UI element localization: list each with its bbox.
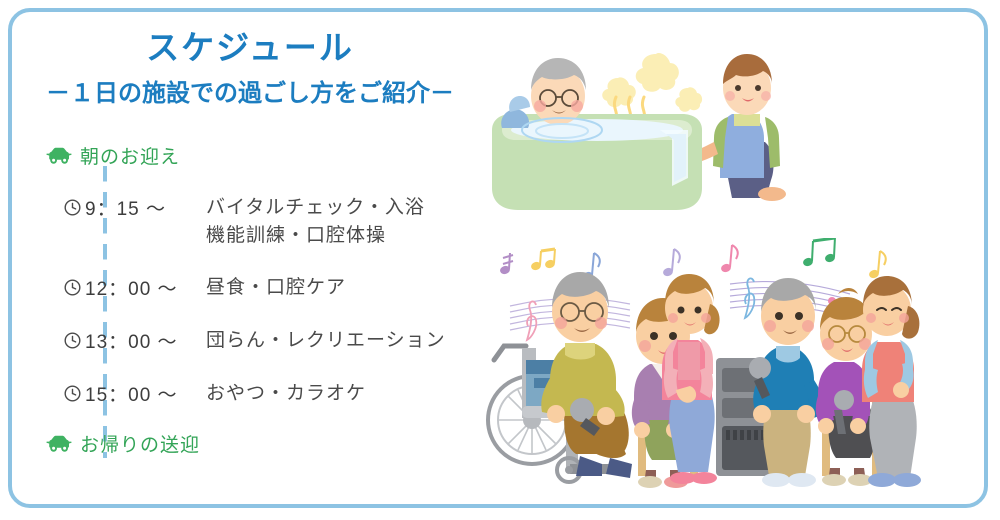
clock-icon (64, 279, 81, 296)
entry-time-group: 15：00 ～ (64, 380, 192, 407)
entry-activity: おやつ・カラオケ (192, 380, 366, 408)
pickup-row: 朝のお迎え (46, 142, 180, 169)
entry-time-group: 13：00 ～ (64, 327, 192, 354)
entry-time-group: 9：15 ～ (64, 194, 192, 221)
bathtub (492, 114, 702, 210)
page-subtitle: －１日の施設での過ごし方をご紹介－ (30, 78, 470, 109)
clock-icon (64, 385, 81, 402)
bathing-assistance-illustration (470, 18, 790, 228)
timeline-entry: 13：00 ～ 団らん・レクリエーション (64, 327, 446, 355)
heading-block: スケジュール －１日の施設での過ごし方をご紹介－ (30, 28, 470, 109)
car-icon (46, 434, 72, 453)
car-icon (46, 146, 72, 165)
elderly-man-wheelchair (541, 272, 632, 478)
timeline-item-dropoff: お帰りの送迎 (46, 430, 200, 457)
karaoke-recreation-illustration (470, 238, 970, 488)
timeline-entry: 12：00 ～ 昼食・口腔ケア (64, 274, 346, 302)
schedule-infographic: スケジュール －１日の施設での過ごし方をご紹介－ (0, 0, 1000, 520)
clock-icon (64, 332, 81, 349)
clock-icon (64, 199, 81, 216)
timeline-entry: 15：00 ～ おやつ・カラオケ (64, 380, 366, 408)
entry-activity: 団らん・レクリエーション (192, 327, 446, 355)
schedule-timeline: 朝のお迎え 9：15 ～ バイタルチェック・入浴 機能訓練・口腔体操 (40, 142, 470, 472)
entry-activity: バイタルチェック・入浴 機能訓練・口腔体操 (192, 194, 425, 249)
timeline-entry: 9：15 ～ バイタルチェック・入浴 機能訓練・口腔体操 (64, 194, 425, 249)
timeline-item-pickup: 朝のお迎え (46, 142, 180, 169)
entry-time: 13：00 ～ (85, 327, 178, 354)
entry-time: 12：00 ～ (85, 274, 178, 301)
entry-activity: 昼食・口腔ケア (192, 274, 346, 302)
page-title: スケジュール (30, 28, 470, 68)
entry-time: 9：15 ～ (85, 194, 166, 221)
steam-cloud-group (602, 53, 702, 123)
pickup-label: 朝のお迎え (80, 142, 180, 169)
entry-time: 15：00 ～ (85, 380, 178, 407)
entry-time-group: 12：00 ～ (64, 274, 192, 301)
dropoff-row: お帰りの送迎 (46, 430, 200, 457)
dropoff-label: お帰りの送迎 (80, 430, 200, 457)
